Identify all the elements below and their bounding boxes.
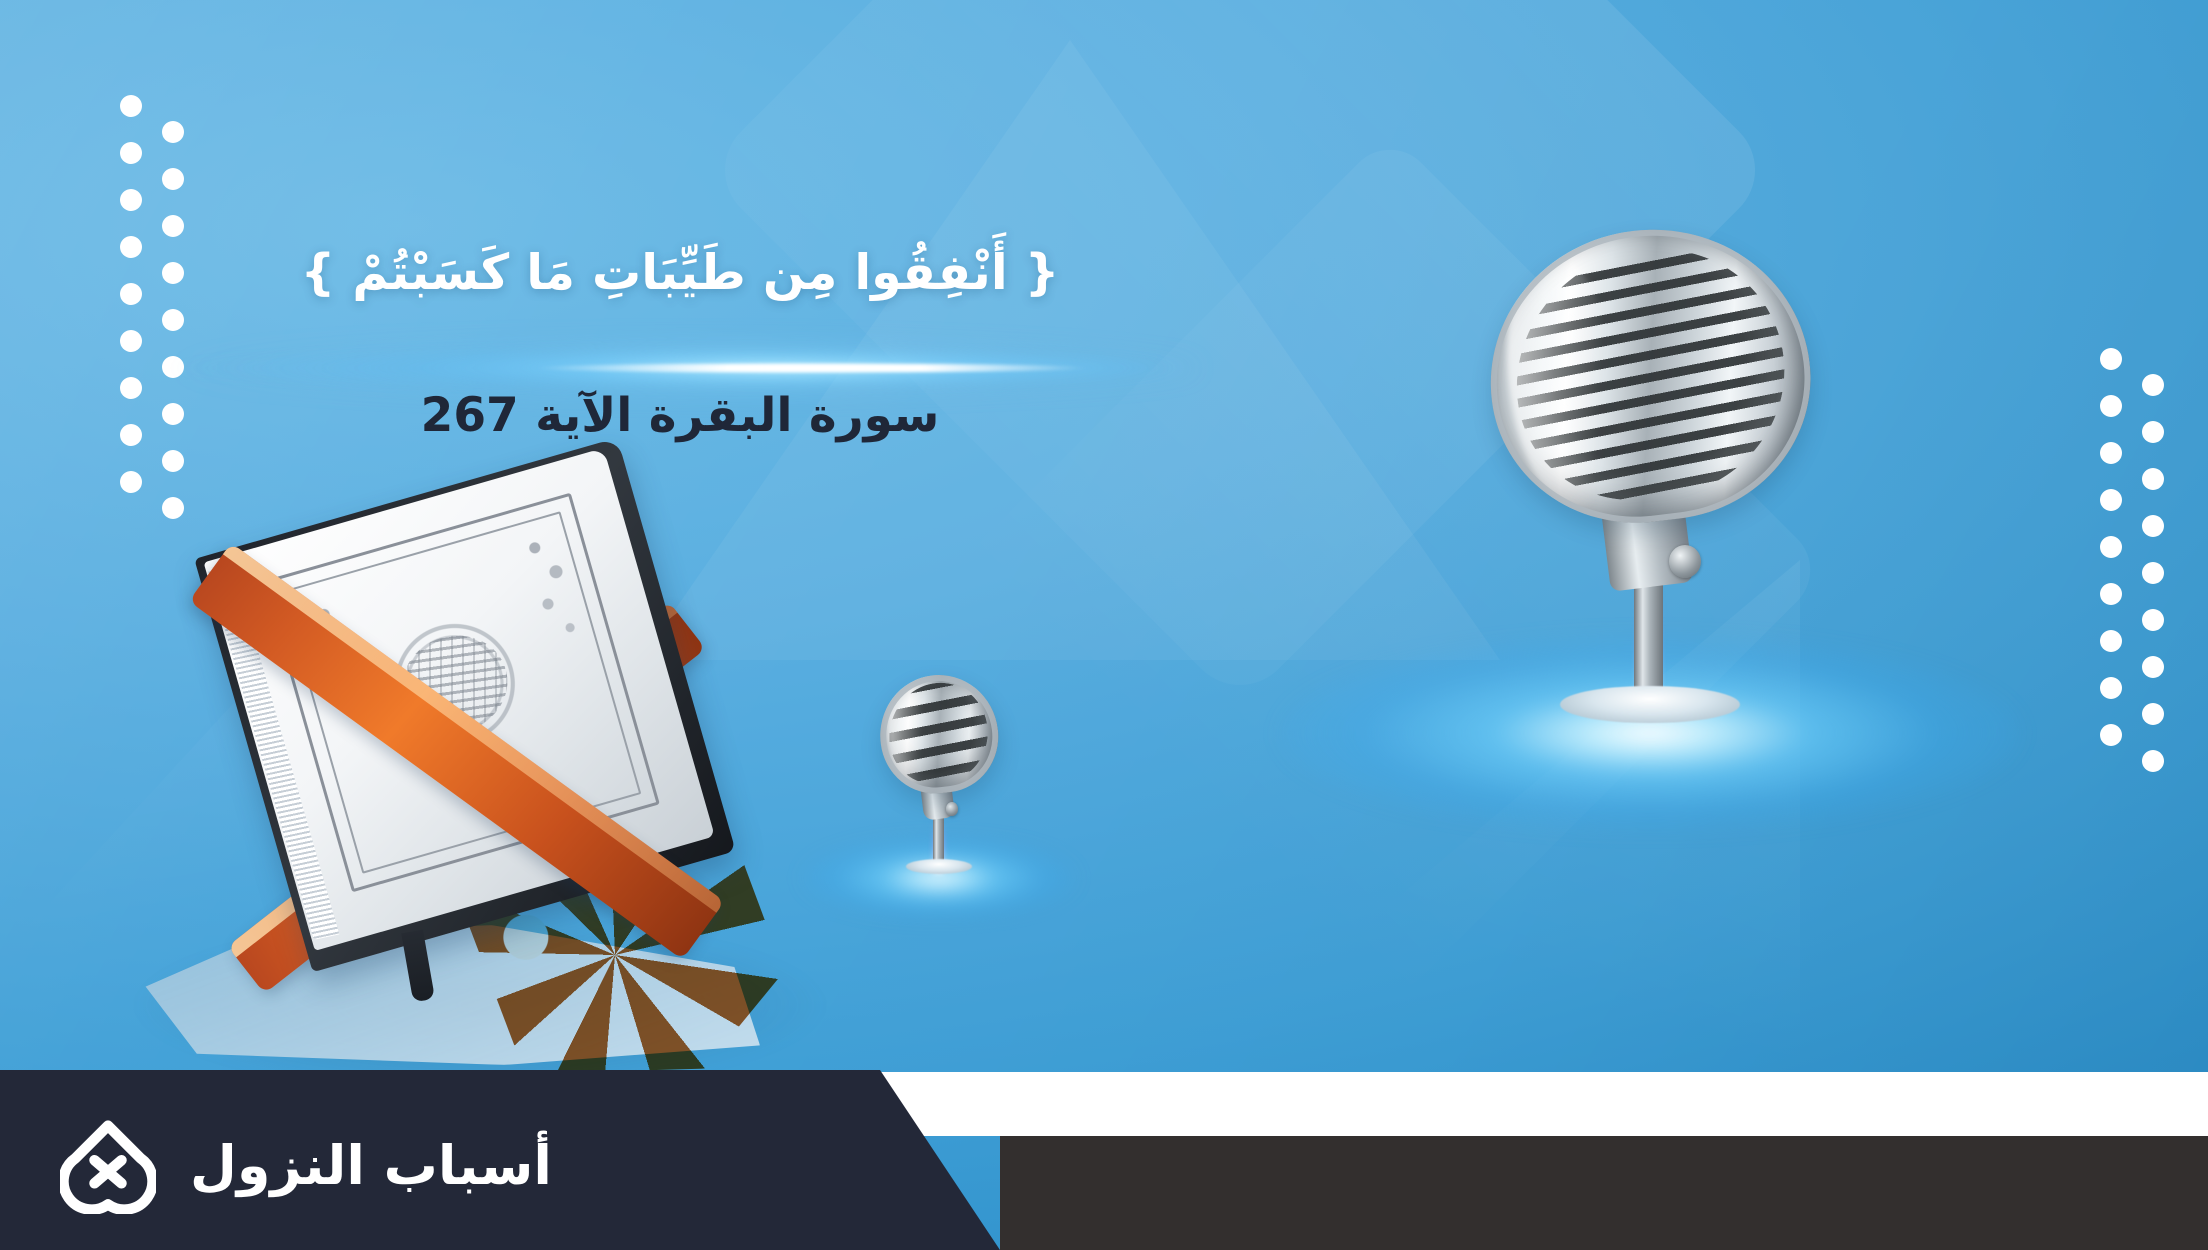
quran-verse-text: { أَنْفِقُوا مِن طَيِّبَاتِ مَا كَسَبْتُ… [200, 240, 1160, 306]
microphone-icon [1490, 230, 1810, 700]
decor-dot [120, 377, 142, 399]
decor-dot [162, 168, 184, 190]
microphone-head [1473, 212, 1826, 540]
decor-dot [120, 283, 142, 305]
decor-dot [120, 236, 142, 258]
decor-dot [2100, 442, 2122, 464]
decor-dot [2142, 468, 2164, 490]
decor-dot [2100, 583, 2122, 605]
decor-dot [2142, 703, 2164, 725]
dot-column [120, 95, 142, 518]
decor-dot [120, 330, 142, 352]
decor-dot [2142, 750, 2164, 772]
decor-dot [162, 356, 184, 378]
surah-reference-text: سورة البقرة الآية 267 [200, 385, 1160, 446]
decor-dot [2100, 724, 2122, 746]
microphone-stem [933, 812, 944, 865]
decor-dot [162, 121, 184, 143]
dot-column [2142, 374, 2164, 797]
decor-dot [162, 450, 184, 472]
microphone-knob [946, 802, 958, 815]
banner-stage: { أَنْفِقُوا مِن طَيِّبَاتِ مَا كَسَبْتُ… [0, 0, 2208, 1250]
decor-dot [162, 262, 184, 284]
quran-book-icon [150, 470, 910, 1120]
decor-dot [120, 471, 142, 493]
decor-dot [2142, 421, 2164, 443]
decor-dot [2142, 515, 2164, 537]
heart-x-logo-icon [60, 1118, 156, 1214]
decor-dot [162, 309, 184, 331]
microphone-base-glow [1560, 686, 1739, 724]
decor-dot [120, 424, 142, 446]
decor-dot [2100, 348, 2122, 370]
footer-bar: أسباب النزول [0, 1070, 2208, 1250]
brand-name-label: أسباب النزول [190, 1139, 552, 1193]
microphone-knob [1669, 545, 1701, 578]
decor-dot [2100, 630, 2122, 652]
decor-dot [120, 189, 142, 211]
decor-dot [2100, 395, 2122, 417]
decor-dot [2100, 677, 2122, 699]
dot-column [2100, 348, 2122, 771]
decor-dot [120, 95, 142, 117]
brand-lockup[interactable]: أسباب النزول [60, 1118, 552, 1214]
decor-dot [2142, 562, 2164, 584]
microphone-head [873, 668, 1004, 799]
microphone-rim [1473, 212, 1826, 540]
decor-dot [2100, 536, 2122, 558]
decor-dot [162, 403, 184, 425]
decor-dot [2100, 489, 2122, 511]
decor-dot [2142, 609, 2164, 631]
decor-dot [162, 215, 184, 237]
decor-dot [2142, 374, 2164, 396]
microphone-icon [880, 675, 998, 865]
decor-dot [120, 142, 142, 164]
decor-dot [2142, 656, 2164, 678]
